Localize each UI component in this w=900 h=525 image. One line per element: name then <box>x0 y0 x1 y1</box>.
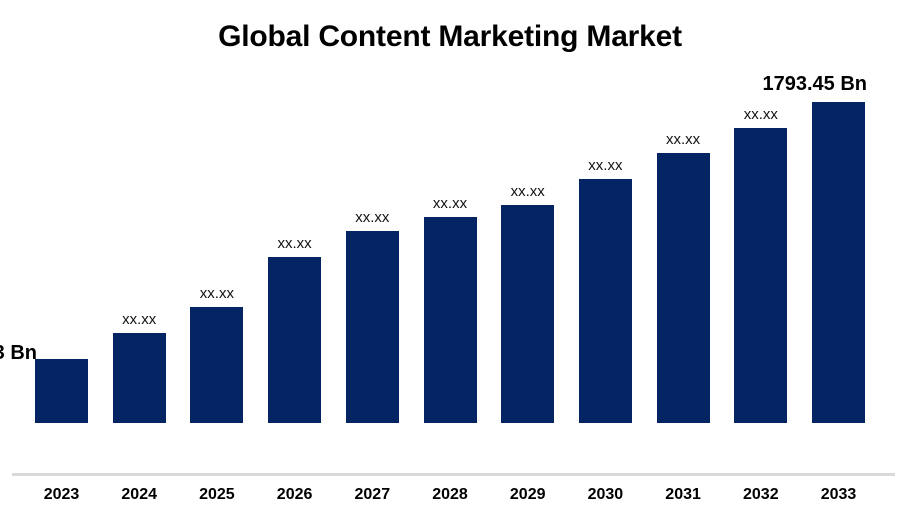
x-tick-label-2032: 2032 <box>734 486 787 504</box>
x-tick-label-2026: 2026 <box>268 486 321 504</box>
bar-2023[interactable] <box>35 359 88 423</box>
bar-2028[interactable] <box>424 217 477 423</box>
bar-value-label-2023: 525.53 Bn <box>0 343 37 363</box>
bar-2029[interactable] <box>501 205 554 423</box>
chart-container: Global Content Marketing Market 525.53 B… <box>0 0 900 525</box>
x-tick-label-2029: 2029 <box>501 486 554 504</box>
bar-group: xx.xx <box>579 179 632 423</box>
x-tick-label-2031: 2031 <box>657 486 710 504</box>
x-axis-line <box>12 473 895 476</box>
bar-value-label-2029: xx.xx <box>511 184 545 199</box>
bar-2031[interactable] <box>657 153 710 423</box>
bar-group: xx.xx <box>346 231 399 423</box>
x-tick-label-2024: 2024 <box>113 486 166 504</box>
bar-2033[interactable] <box>812 102 865 423</box>
bar-group: xx.xx <box>501 205 554 423</box>
bar-2024[interactable] <box>113 333 166 423</box>
bar-group: xx.xx <box>268 257 321 423</box>
bar-2032[interactable] <box>734 128 787 423</box>
x-tick-label-2033: 2033 <box>812 486 865 504</box>
bar-group: xx.xx <box>734 128 787 423</box>
bar-group: xx.xx <box>424 217 477 423</box>
bar-2025[interactable] <box>190 307 243 423</box>
bar-value-label-2031: xx.xx <box>666 132 700 147</box>
bar-value-label-2025: xx.xx <box>200 286 234 301</box>
bar-value-label-2026: xx.xx <box>278 236 312 251</box>
bar-value-label-2028: xx.xx <box>433 196 467 211</box>
bar-group: 1793.45 Bn <box>812 102 865 423</box>
bar-group: xx.xx <box>190 307 243 423</box>
bar-2027[interactable] <box>346 231 399 423</box>
bar-group: xx.xx <box>657 153 710 423</box>
x-tick-label-2028: 2028 <box>424 486 477 504</box>
x-tick-label-2025: 2025 <box>190 486 243 504</box>
x-tick-label-2027: 2027 <box>346 486 399 504</box>
bar-group: xx.xx <box>113 333 166 423</box>
x-tick-label-2030: 2030 <box>579 486 632 504</box>
bar-value-label-2024: xx.xx <box>122 312 156 327</box>
bar-2030[interactable] <box>579 179 632 423</box>
bar-value-label-2033: 1793.45 Bn <box>762 74 867 94</box>
bar-value-label-2027: xx.xx <box>355 210 389 225</box>
bar-value-label-2030: xx.xx <box>588 158 622 173</box>
plot-area: 525.53 Bnxx.xxxx.xxxx.xxxx.xxxx.xxxx.xxx… <box>0 0 900 475</box>
bar-2026[interactable] <box>268 257 321 423</box>
x-tick-label-2023: 2023 <box>35 486 88 504</box>
bar-value-label-2032: xx.xx <box>744 107 778 122</box>
bar-group: 525.53 Bn <box>35 359 88 423</box>
